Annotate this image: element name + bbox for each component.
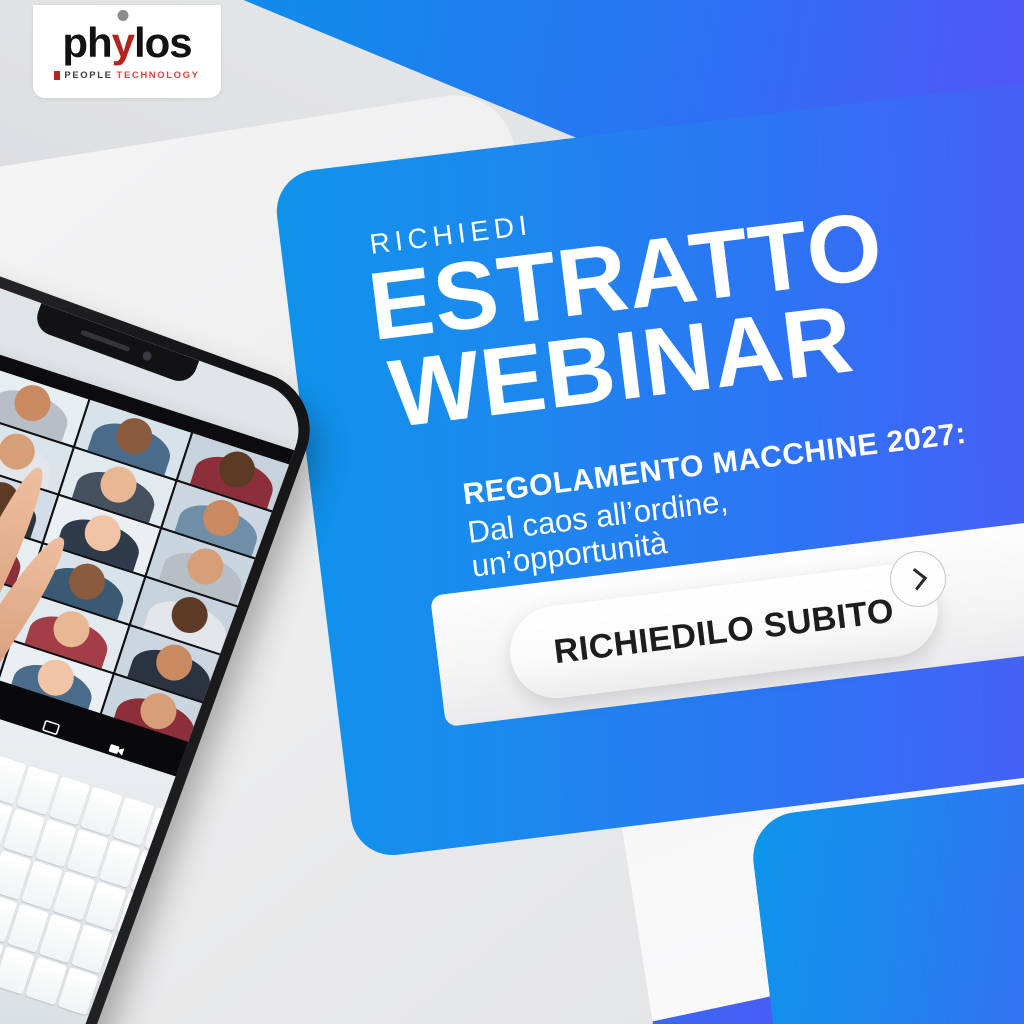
brand-logo[interactable]: phylos PEOPLE TECHNOLOGY (33, 5, 221, 98)
logo-text-y: y (112, 19, 134, 66)
square-bullet-icon (54, 71, 60, 80)
cta-button-label: RICHIEDILO SUBITO (552, 591, 896, 671)
logo-tagline: PEOPLE TECHNOLOGY (54, 70, 199, 81)
promo-graphic: RICHIEDI ESTRATTO WEBINAR REGOLAMENTO MA… (0, 0, 1024, 1024)
tagline-technology: TECHNOLOGY (117, 70, 200, 81)
tagline-people: PEOPLE (64, 70, 112, 81)
logo-text-los: los (134, 19, 192, 66)
earpiece-icon (80, 329, 131, 351)
logo-wordmark: phylos (62, 22, 191, 64)
logo-text-ph: ph (62, 19, 111, 66)
front-camera-icon (141, 350, 153, 362)
logo-dot-icon (117, 10, 128, 21)
chevron-glyph (905, 568, 927, 590)
